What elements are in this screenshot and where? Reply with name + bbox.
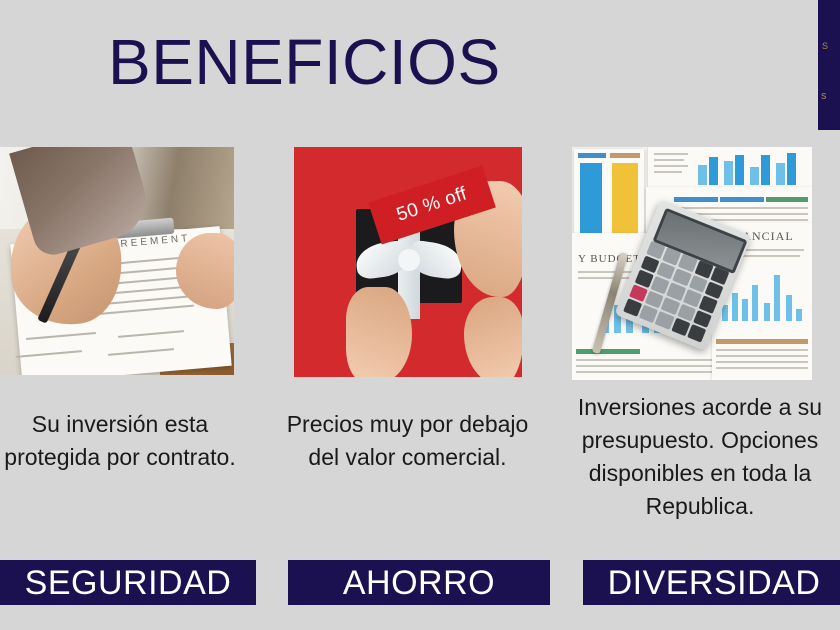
column-caption: Su inversión esta protegida por contrato… — [0, 408, 240, 474]
photo3-text-line — [716, 361, 808, 363]
banner-label: AHORRO — [343, 566, 495, 600]
photo3-text-line — [576, 359, 716, 361]
photo3-table-header — [720, 197, 764, 202]
photo2-hand-lower-left — [346, 287, 412, 377]
photo3-text-line — [576, 365, 716, 367]
photo3-bar — [709, 157, 718, 185]
photo3-bar-chart — [696, 151, 808, 185]
photo3-text-line — [654, 165, 688, 167]
photo3-table-header — [766, 197, 808, 202]
brand-sub-text: S — [821, 92, 840, 102]
photo-discount-gift: 50 % off — [294, 147, 522, 377]
banner-ahorro: AHORRO — [288, 560, 550, 605]
page-title: BENEFICIOS — [108, 26, 708, 98]
photo-contract-signing: AGREEMENT — [0, 147, 234, 375]
banner-label: SEGURIDAD — [25, 566, 232, 600]
photo3-text-line — [716, 367, 808, 369]
photo3-bar — [580, 163, 602, 237]
photo3-bar — [735, 155, 744, 185]
photo3-bar — [776, 163, 785, 185]
column-caption: Precios muy por debajo del valor comerci… — [285, 408, 530, 474]
photo3-bar — [742, 299, 748, 321]
photo3-budget-label: Y BUDGET — [578, 253, 641, 265]
photo3-text-line — [576, 371, 716, 373]
photo3-report-sheet — [574, 149, 644, 245]
presentation-slide: BENEFICIOS S S AGREEMENT Su inversión es… — [0, 0, 840, 630]
photo3-bar — [752, 285, 758, 321]
photo3-text-line — [716, 355, 808, 357]
photo3-bar — [787, 153, 796, 185]
photo3-bar — [732, 293, 738, 321]
calculator-key — [655, 311, 674, 329]
photo3-bar — [764, 303, 770, 321]
photo3-table-header — [716, 339, 808, 344]
photo3-text-line — [654, 159, 684, 161]
photo3-bar — [612, 163, 638, 237]
photo3-bar — [750, 167, 759, 185]
photo3-bar — [724, 161, 733, 185]
photo3-bar — [774, 275, 780, 321]
photo3-text-line — [716, 349, 808, 351]
photo2-bow-knot — [398, 249, 420, 271]
photo3-text-line — [654, 171, 682, 173]
photo3-table-header — [578, 153, 606, 158]
photo3-bar — [786, 295, 792, 321]
photo3-table-header — [674, 197, 718, 202]
photo2-hand-lower-right — [464, 297, 522, 377]
photo3-bar — [722, 305, 728, 321]
photo3-bar — [698, 165, 707, 185]
banner-seguridad: SEGURIDAD — [0, 560, 256, 605]
photo-financial-reports: Y BUDGET FINANCIAL — [572, 147, 812, 380]
banner-diversidad: DIVERSIDAD — [583, 560, 840, 605]
photo3-bar — [796, 309, 802, 321]
brand-mark-text: S — [822, 40, 840, 52]
banner-label: DIVERSIDAD — [608, 566, 821, 600]
photo3-table-header — [610, 153, 640, 158]
photo3-bar — [761, 155, 770, 185]
brand-panel: S S — [818, 0, 840, 130]
calculator-key — [687, 324, 706, 342]
photo3-text-line — [654, 153, 688, 155]
column-caption: Inversiones acorde a su presupuesto. Opc… — [562, 391, 838, 523]
photo3-text-line — [674, 207, 808, 209]
photo3-table-header — [576, 349, 640, 354]
